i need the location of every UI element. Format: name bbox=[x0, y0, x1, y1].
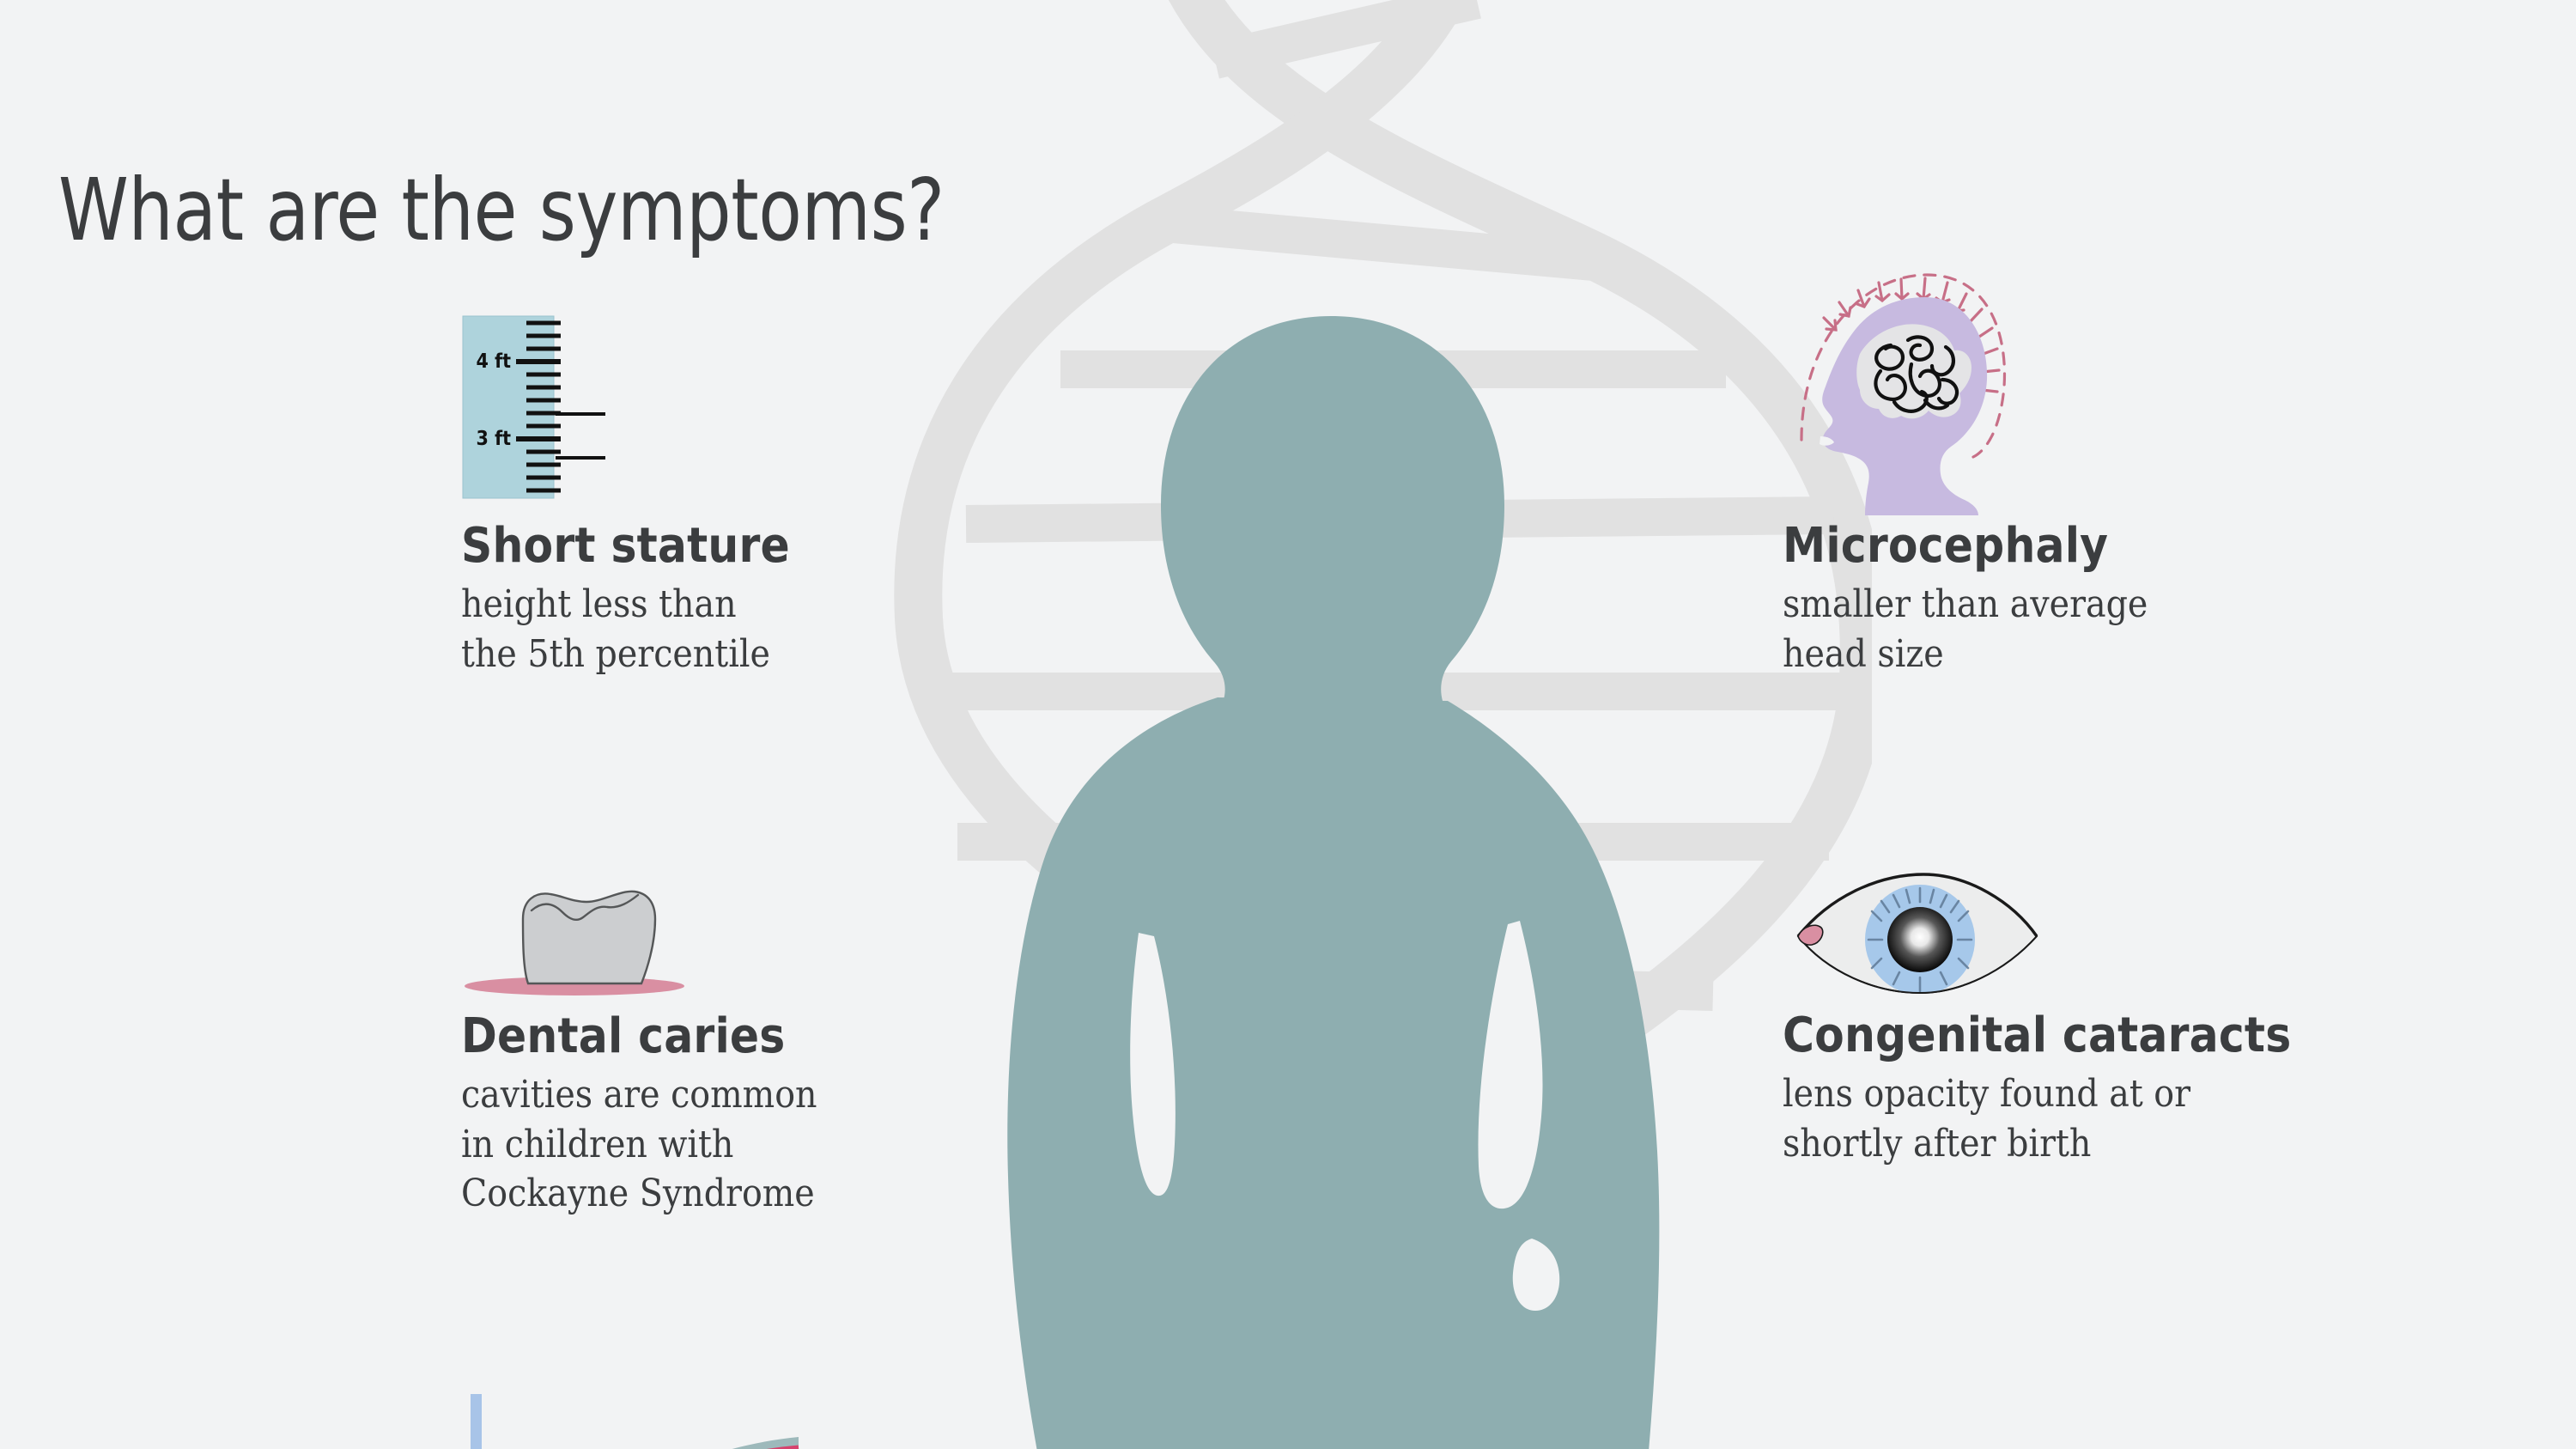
symptom-title-short-stature: Short stature bbox=[461, 521, 790, 571]
symptom-description-short-stature: height less than the 5th percentile bbox=[461, 580, 790, 678]
symptom-title-dental-caries: Dental caries bbox=[461, 1011, 817, 1062]
dna-double-helix-icon bbox=[876, 0, 1872, 1449]
symptom-card-microcephaly: Microcephaly smaller than average head s… bbox=[1783, 258, 2148, 679]
chart-band bbox=[558, 1437, 799, 1449]
symptom-card-partial-below-fold bbox=[455, 1387, 936, 1449]
growth-chart-icon bbox=[455, 1387, 936, 1449]
symptom-card-dental-caries: Dental caries cavities are common in chi… bbox=[461, 866, 817, 1218]
page-title: What are the symptoms? bbox=[58, 167, 945, 253]
chart-axis-bar bbox=[471, 1394, 482, 1449]
ruler-panel bbox=[463, 316, 554, 498]
symptom-description-congenital-cataracts: lens opacity found at or shortly after b… bbox=[1783, 1069, 2291, 1167]
symptom-card-congenital-cataracts: Congenital cataracts lens opacity found … bbox=[1783, 868, 2291, 1168]
ruler-label-lower: 3 ft bbox=[477, 428, 512, 450]
symptom-title-congenital-cataracts: Congenital cataracts bbox=[1783, 1010, 2291, 1061]
ruler-label-upper: 4 ft bbox=[477, 350, 512, 373]
height-ruler-icon: 4 ft 3 ft bbox=[461, 309, 719, 507]
symptom-description-microcephaly: smaller than average head size bbox=[1783, 580, 2148, 678]
tooth-icon bbox=[461, 866, 719, 999]
infographic-canvas: What are the symptoms? bbox=[0, 0, 2576, 1449]
symptom-card-short-stature: 4 ft 3 ft Short stature height less than… bbox=[461, 309, 790, 679]
eye-pupil-cataract bbox=[1887, 907, 1953, 972]
child-head-brain-icon bbox=[1783, 258, 2040, 515]
symptom-title-microcephaly: Microcephaly bbox=[1783, 521, 2148, 571]
symptom-description-dental-caries: cavities are common in children with Coc… bbox=[461, 1070, 817, 1218]
person-silhouette-icon bbox=[970, 309, 1692, 1449]
eye-cataract-icon bbox=[1783, 868, 2049, 998]
